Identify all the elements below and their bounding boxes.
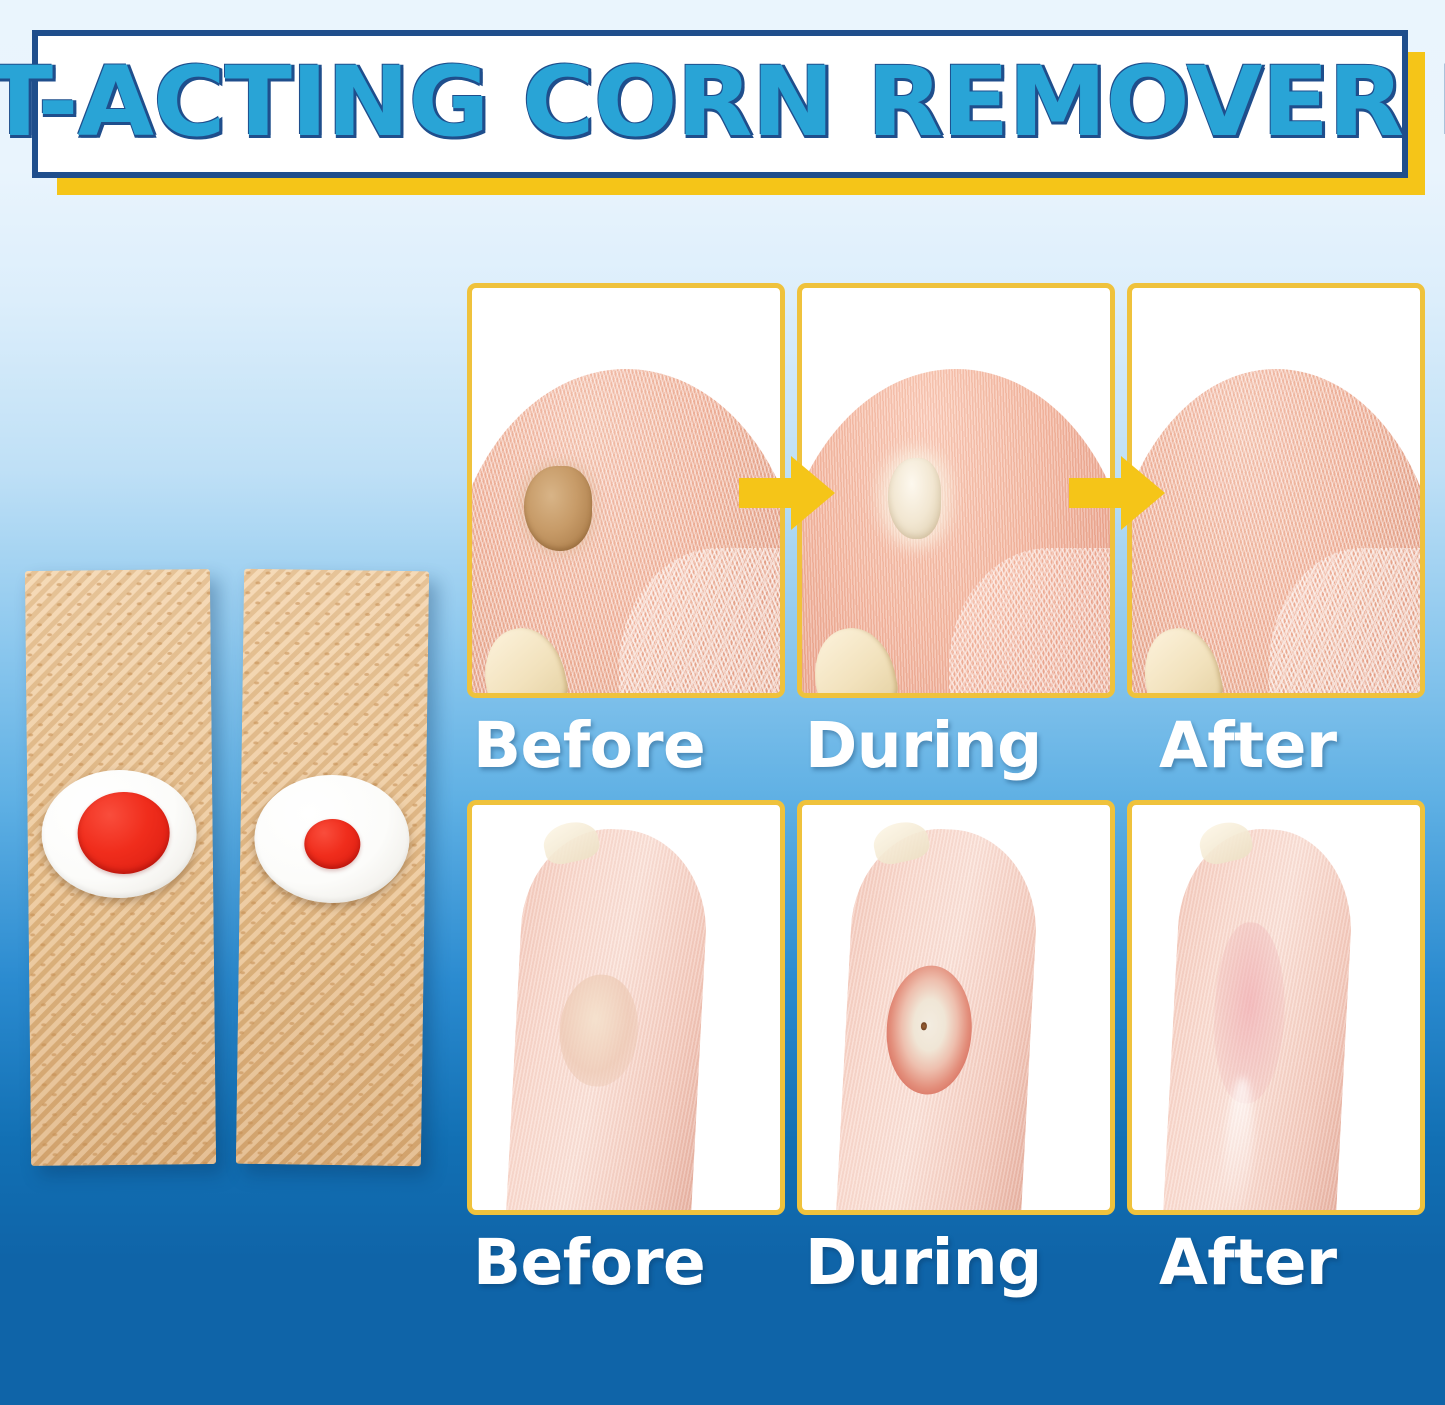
callus-lesion (557, 973, 640, 1089)
progress-arrow-icon (739, 456, 835, 530)
header-title-box: FAST-ACTING CORN REMOVER PAD (32, 30, 1408, 178)
toe-corn-sequence-row (467, 283, 1425, 698)
photo-fingertip-inflamed-corn (802, 805, 1110, 1210)
corn-remover-pad-large-dot (25, 569, 216, 1166)
skin-surface (834, 825, 1041, 1215)
progress-arrow-icon (1069, 456, 1165, 530)
before-during-after-grid: Before During After (467, 283, 1425, 1330)
label-before: Before (473, 1218, 705, 1308)
corn-remover-pad-small-dot (236, 569, 429, 1167)
pad-white-cushion (41, 769, 197, 899)
label-during: During (805, 701, 1042, 791)
pad-medicated-dot-large (77, 791, 170, 874)
skin-surface (1161, 825, 1356, 1215)
pad-white-cushion (254, 774, 411, 904)
healed-skin-patch (1211, 922, 1289, 1106)
dry-skin-texture (1269, 548, 1425, 698)
photo-toe-with-softened-corn (802, 288, 1110, 693)
dry-skin-texture (949, 548, 1115, 698)
header: FAST-ACTING CORN REMOVER PAD (0, 0, 1445, 215)
skin-surface (504, 825, 711, 1215)
pad-medicated-dot-small (304, 819, 361, 870)
panel-finger-during (797, 800, 1115, 1215)
panel-toe-during (797, 283, 1115, 698)
page-title: FAST-ACTING CORN REMOVER PAD (0, 54, 1445, 154)
fingernail (540, 817, 603, 867)
dry-skin-texture (619, 548, 785, 698)
toe-sequence-labels: Before During After (467, 701, 1425, 793)
corn-lesion-softened (888, 458, 940, 539)
panel-toe-after (1127, 283, 1425, 698)
panel-finger-before (467, 800, 785, 1215)
fingernail (1196, 818, 1255, 867)
panel-finger-after (1127, 800, 1425, 1215)
finger-corn-sequence-row (467, 800, 1425, 1215)
label-after: After (1159, 1218, 1337, 1308)
label-before: Before (473, 701, 705, 791)
label-after: After (1159, 701, 1337, 791)
product-infographic-poster: FAST-ACTING CORN REMOVER PAD (0, 0, 1445, 1405)
corn-lesion-softened (883, 964, 975, 1097)
photo-toe-with-hardened-corn (472, 288, 780, 693)
photo-fingertip-with-callus (472, 805, 780, 1210)
corn-lesion-hard (524, 466, 592, 551)
fingernail (870, 817, 933, 867)
label-during: During (805, 1218, 1042, 1308)
photo-fingertip-healed (1132, 805, 1420, 1210)
finger-sequence-labels: Before During After (467, 1218, 1425, 1310)
panel-toe-before (467, 283, 785, 698)
product-image-group (20, 570, 440, 1210)
photo-toe-clear-skin (1132, 288, 1420, 693)
corn-core (921, 1022, 926, 1030)
